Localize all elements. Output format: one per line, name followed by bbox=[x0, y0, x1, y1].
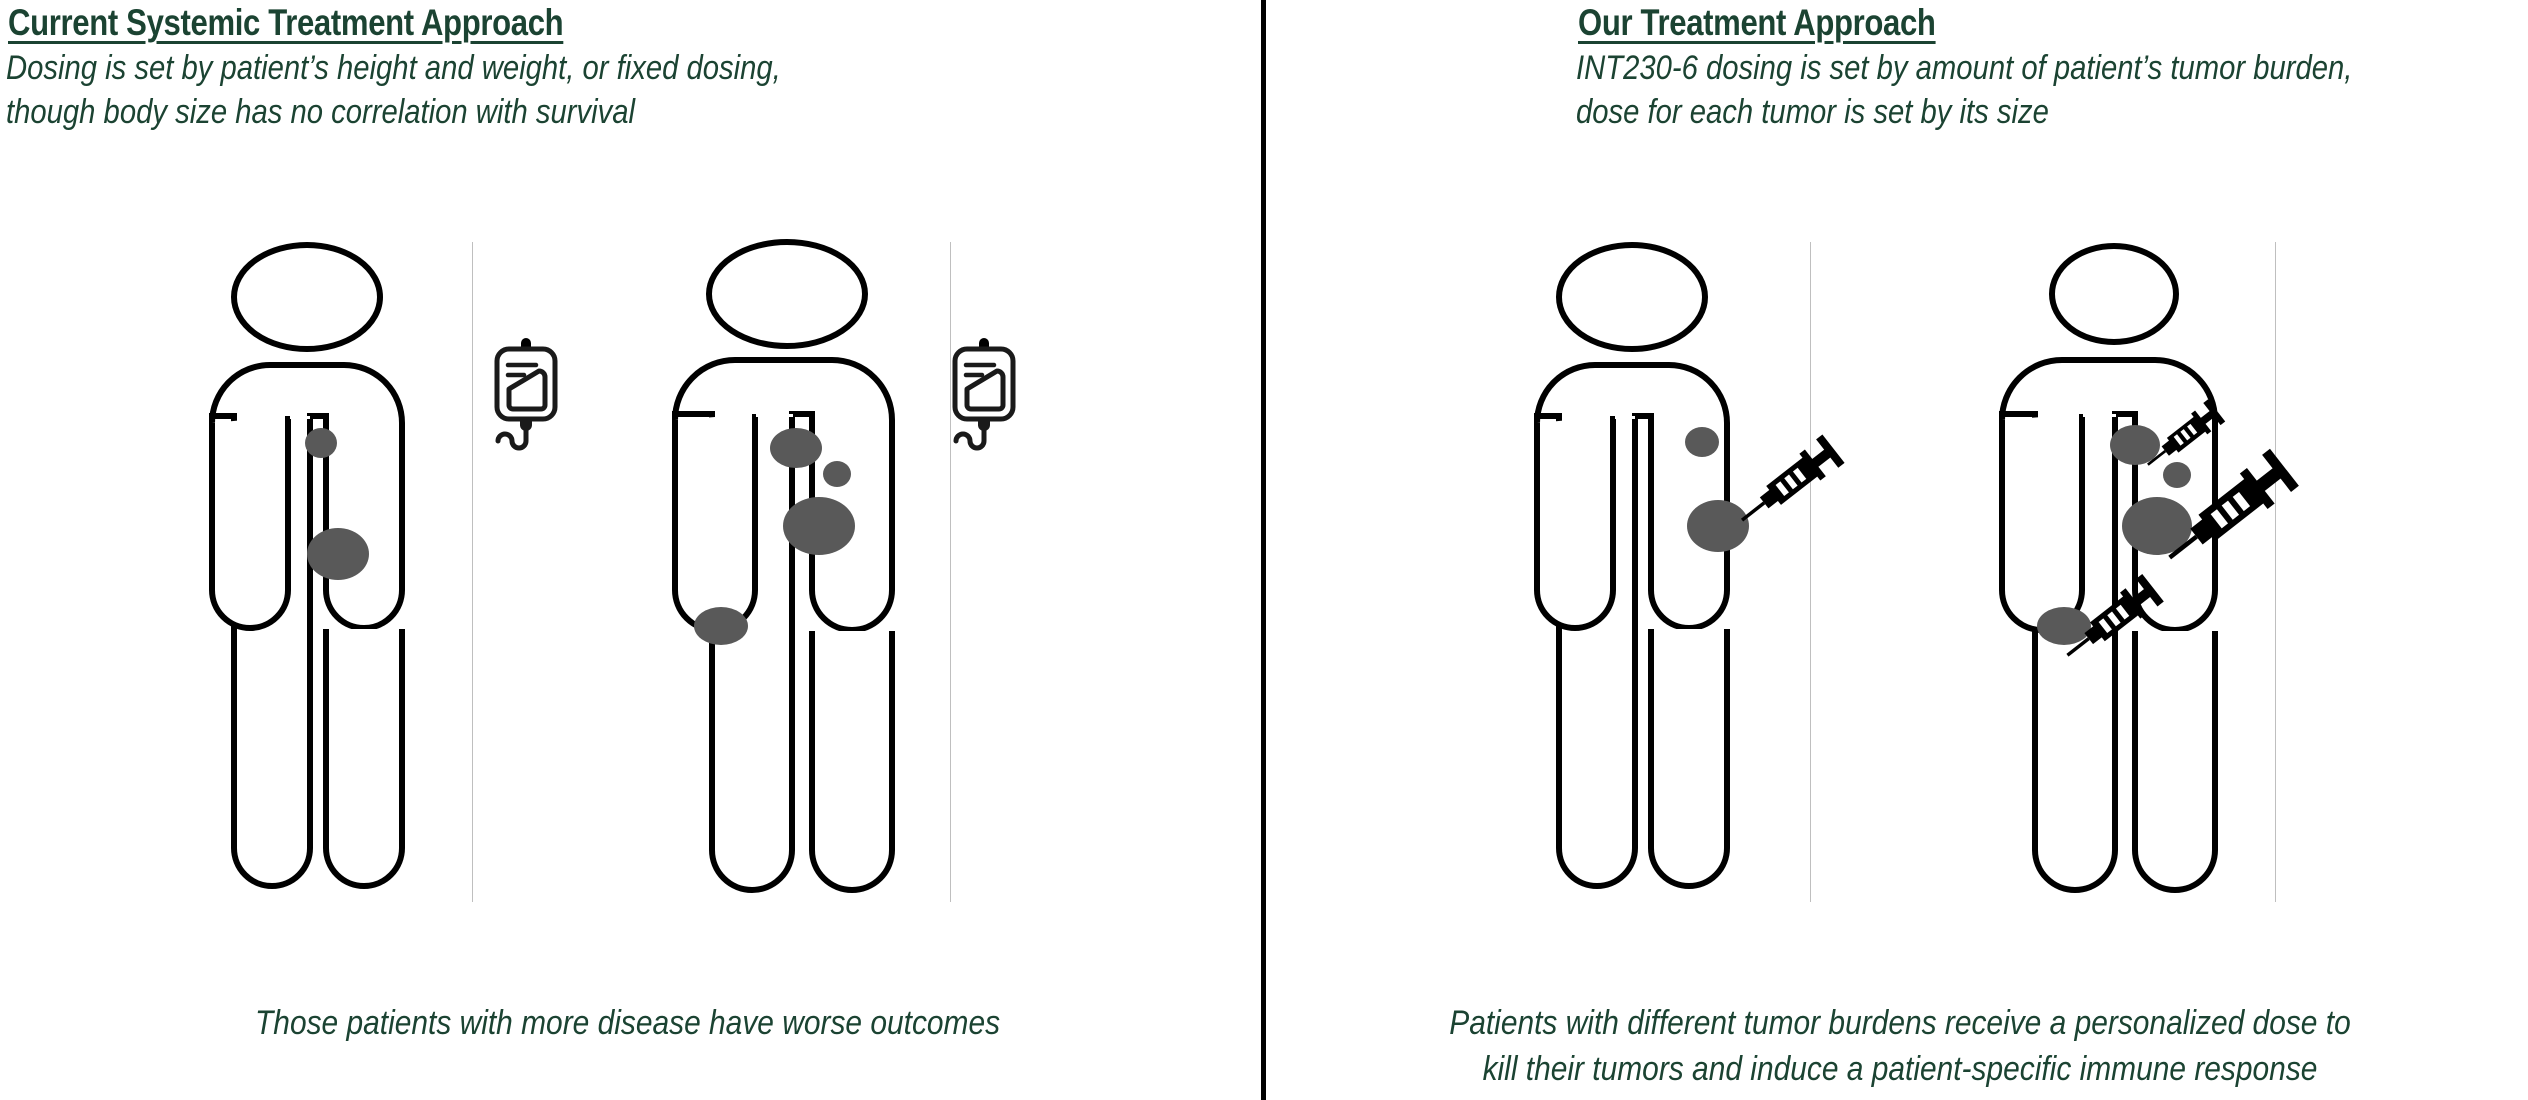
right-leg-outline bbox=[1651, 629, 1727, 886]
head-outline bbox=[1559, 245, 1705, 349]
left-arm-outline bbox=[1537, 416, 1613, 628]
head-outline bbox=[2052, 246, 2176, 342]
right-panel-subheading: INT230-6 dosing is set by amount of pati… bbox=[1576, 46, 2402, 134]
right-caption-line-2: kill their tumors and induce a patient-s… bbox=[1354, 1046, 2445, 1092]
right-panel: Our Treatment Approach INT230-6 dosing i… bbox=[0, 0, 2528, 1100]
panel-separator-line bbox=[1810, 242, 1811, 902]
syringe-icon bbox=[2050, 562, 2170, 682]
syringe-icon bbox=[2148, 432, 2308, 592]
right-panel-heading: Our Treatment Approach bbox=[1578, 2, 1936, 44]
right-patient-1-figure bbox=[1475, 240, 1805, 900]
tumor-chest-small bbox=[1685, 427, 1719, 457]
right-panel-caption: Patients with different tumor burdens re… bbox=[1354, 1000, 2445, 1092]
syringe-icon bbox=[1722, 420, 1852, 550]
right-caption-line-1: Patients with different tumor burdens re… bbox=[1354, 1000, 2445, 1046]
